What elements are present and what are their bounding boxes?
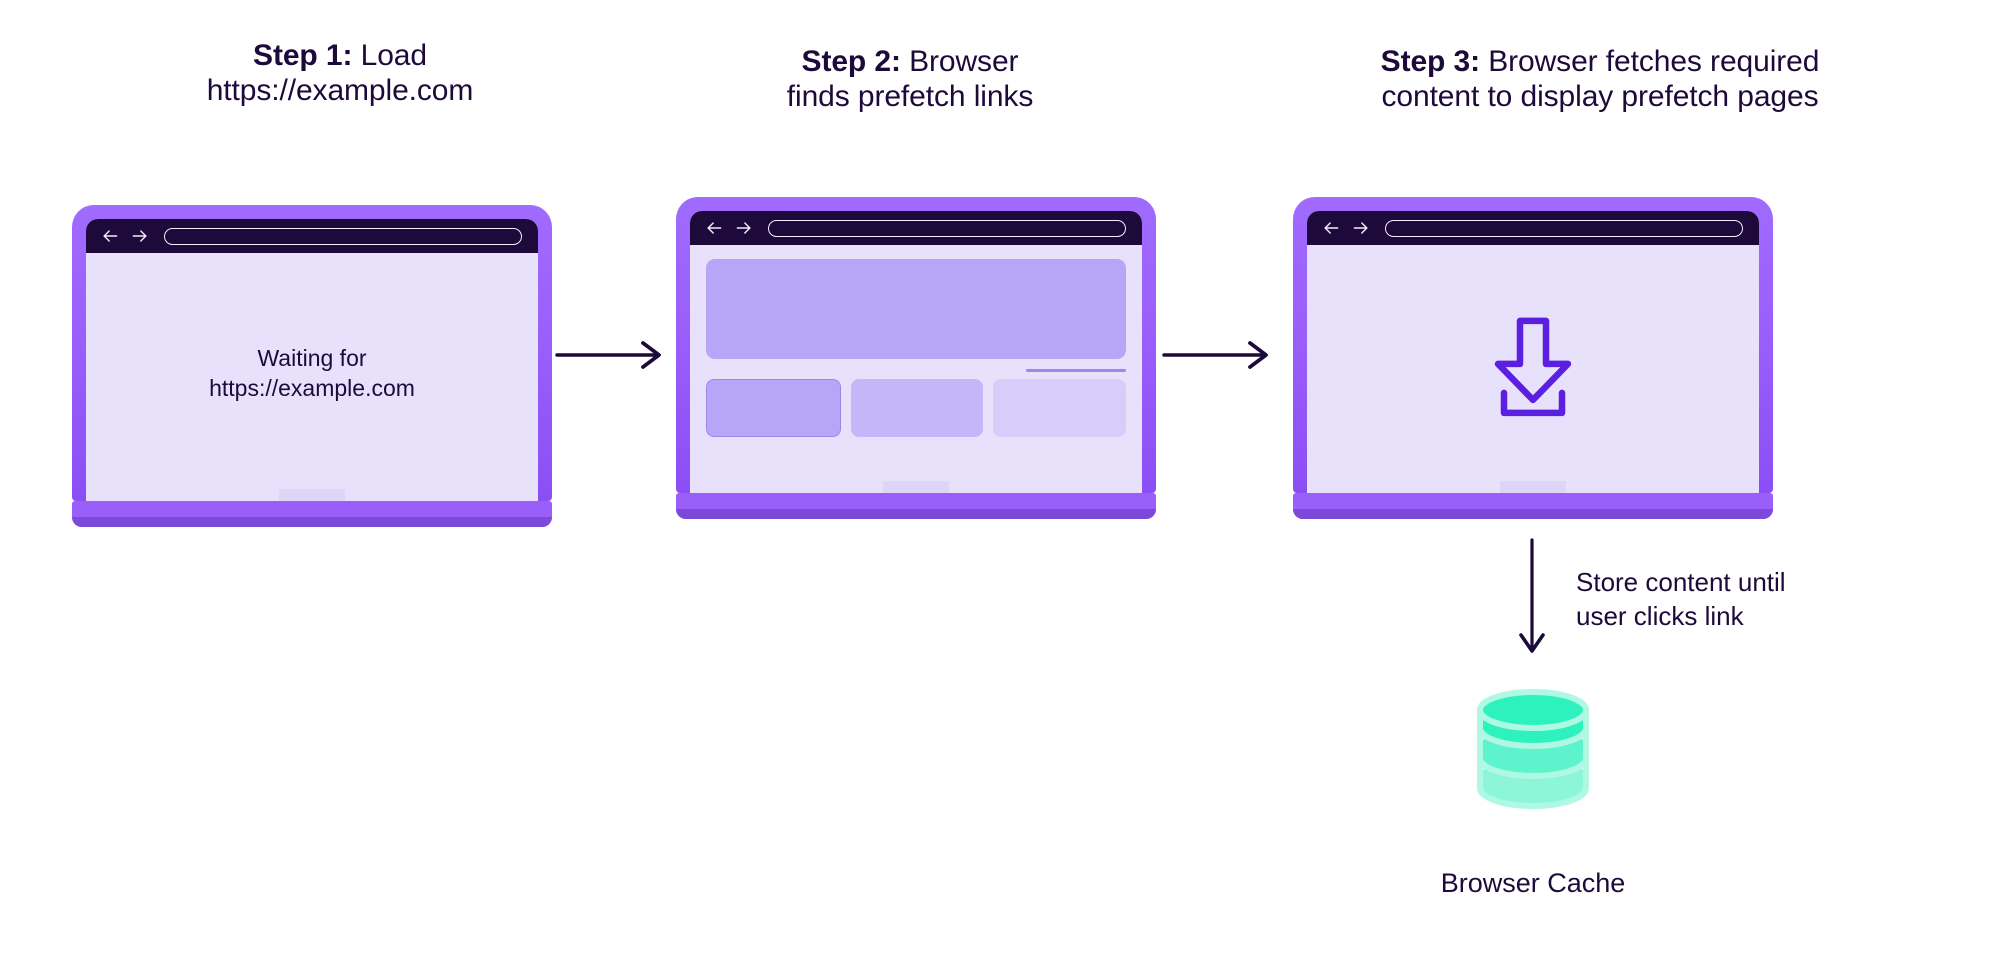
laptop-1-deck (72, 501, 552, 518)
arrow-right-icon[interactable] (734, 218, 754, 238)
content-divider (1026, 369, 1126, 372)
prefetch-card-2[interactable] (851, 379, 984, 437)
step-2-title-line2: finds prefetch links (787, 80, 1033, 113)
database-icon (1468, 680, 1598, 815)
step-3-title-rest: Browser fetches required (1480, 45, 1819, 78)
laptop-step-1: Waiting for https://example.com (72, 205, 552, 527)
waiting-message: Waiting for https://example.com (86, 343, 538, 404)
laptop-1-lid: Waiting for https://example.com (72, 205, 552, 501)
laptop-3-screen (1307, 211, 1759, 493)
arrow-right-icon[interactable] (1351, 218, 1371, 238)
prefetch-card-row (706, 379, 1126, 437)
prefetch-card-3[interactable] (993, 379, 1126, 437)
step-1-title-line2: https://example.com (207, 74, 474, 107)
laptop-2-browser-chrome (690, 211, 1142, 245)
laptop-3-deck (1293, 493, 1773, 510)
cache-note: Store content until user clicks link (1576, 565, 1906, 634)
step-3-title-lead: Step 3: (1381, 45, 1480, 78)
prefetch-card-1[interactable] (706, 379, 841, 437)
laptop-1-viewport: Waiting for https://example.com (86, 253, 538, 501)
arrow-step1-to-step2 (555, 335, 670, 375)
step-1-title-lead: Step 1: (253, 39, 352, 72)
laptop-3-lid (1293, 197, 1773, 493)
laptop-1-base (72, 501, 552, 527)
laptop-2-base (676, 493, 1156, 519)
browser-cache-label: Browser Cache (1383, 868, 1683, 899)
step-2-title-rest: Browser (901, 45, 1019, 78)
laptop-1-front-edge (72, 517, 552, 527)
arrow-left-icon[interactable] (100, 226, 120, 246)
laptop-2-screen (690, 211, 1142, 493)
waiting-message-line2: https://example.com (86, 373, 538, 403)
step-1-title: Step 1: Load https://example.com (60, 38, 620, 109)
arrow-step2-to-step3 (1162, 335, 1277, 375)
laptop-2-lid (676, 197, 1156, 493)
laptop-3-front-edge (1293, 509, 1773, 519)
arrow-left-icon[interactable] (704, 218, 724, 238)
laptop-step-2 (676, 197, 1156, 519)
arrow-right-icon[interactable] (130, 226, 150, 246)
laptop-1-browser-chrome (86, 219, 538, 253)
step-2-title-lead: Step 2: (802, 45, 901, 78)
arrow-left-icon[interactable] (1321, 218, 1341, 238)
laptop-1-screen: Waiting for https://example.com (86, 219, 538, 501)
download-icon (1490, 315, 1576, 419)
laptop-2-viewport (690, 245, 1142, 493)
laptop-3-viewport (1307, 245, 1759, 493)
laptop-2-deck (676, 493, 1156, 510)
laptop-3-base (1293, 493, 1773, 519)
url-bar[interactable] (164, 228, 522, 245)
waiting-message-line1: Waiting for (86, 343, 538, 373)
step-2-title: Step 2: Browser finds prefetch links (660, 44, 1160, 115)
step-3-title: Step 3: Browser fetches required content… (1230, 44, 1970, 115)
laptop-3-browser-chrome (1307, 211, 1759, 245)
hero-block (706, 259, 1126, 359)
arrow-step3-to-cache (1512, 538, 1552, 663)
diagram-canvas: Step 1: Load https://example.com Step 2:… (0, 0, 1998, 973)
step-1-title-rest: Load (352, 39, 427, 72)
laptop-step-3 (1293, 197, 1773, 519)
url-bar[interactable] (1385, 220, 1743, 237)
step-3-title-line2: content to display prefetch pages (1382, 80, 1819, 113)
url-bar[interactable] (768, 220, 1126, 237)
laptop-2-front-edge (676, 509, 1156, 519)
